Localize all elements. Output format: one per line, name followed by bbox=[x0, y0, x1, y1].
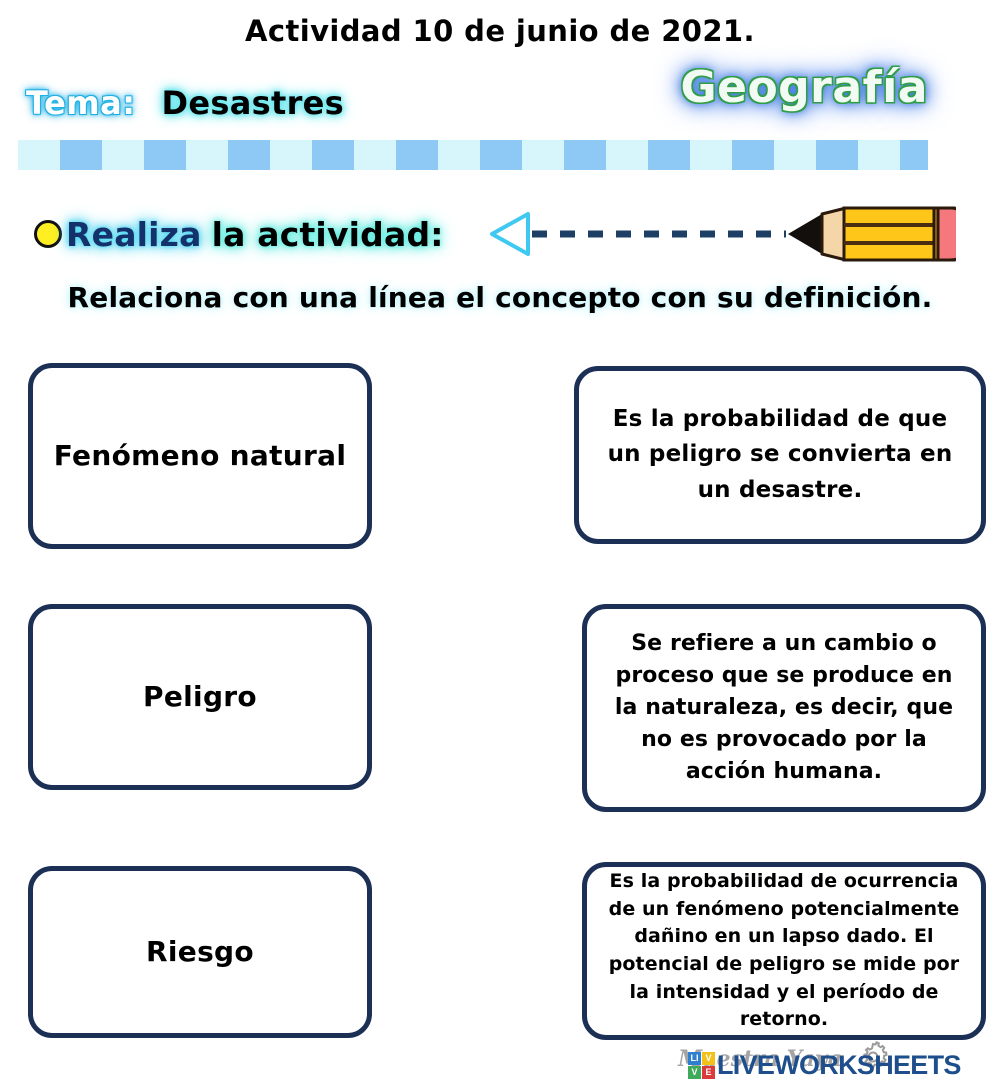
task-heading-row: Realiza la actividad: bbox=[34, 205, 444, 263]
topic-label: Tema: bbox=[26, 84, 136, 122]
logo-tile: V bbox=[688, 1066, 701, 1079]
definition-box[interactable]: Se refiere a un cambio o proceso que se … bbox=[582, 604, 986, 812]
task-heading-primary: Realiza bbox=[66, 215, 202, 254]
concept-box[interactable]: Fenómeno natural bbox=[28, 363, 372, 549]
concept-box[interactable]: Peligro bbox=[28, 604, 372, 790]
topic-value: Desastres bbox=[162, 84, 344, 122]
logo-tile: E bbox=[702, 1066, 715, 1079]
liveworksheets-brand-text: LIVEWORKSHEETS bbox=[717, 1050, 961, 1081]
concept-box[interactable]: Riesgo bbox=[28, 866, 372, 1038]
instruction-text: Relaciona con una línea el concepto con … bbox=[0, 281, 1000, 314]
worksheet-page: Actividad 10 de junio de 2021. Tema: Des… bbox=[0, 0, 1000, 1090]
task-heading-secondary: la actividad: bbox=[212, 215, 444, 254]
liveworksheets-logo-tiles: LI V V E bbox=[688, 1052, 715, 1079]
footer-watermark: Maestra Yaya LI V V E LIVEWORKSHEETS bbox=[660, 1040, 1000, 1090]
dashed-left-arrow-icon bbox=[486, 196, 956, 272]
topic-row: Tema: Desastres bbox=[26, 84, 344, 122]
logo-tile: LI bbox=[688, 1052, 701, 1065]
yellow-circle-bullet-icon bbox=[34, 220, 62, 248]
liveworksheets-logo: LI V V E LIVEWORKSHEETS bbox=[688, 1050, 961, 1081]
page-title: Actividad 10 de junio de 2021. bbox=[0, 14, 1000, 48]
definition-box[interactable]: Es la probabilidad de ocurrencia de un f… bbox=[582, 862, 986, 1040]
logo-tile: V bbox=[702, 1052, 715, 1065]
subject-title: Geografía bbox=[681, 62, 929, 113]
checkered-divider bbox=[18, 140, 928, 170]
pencil-icon bbox=[788, 208, 956, 260]
definition-box[interactable]: Es la probabilidad de que un peligro se … bbox=[574, 366, 986, 544]
arrow-pencil-graphic bbox=[486, 196, 956, 272]
